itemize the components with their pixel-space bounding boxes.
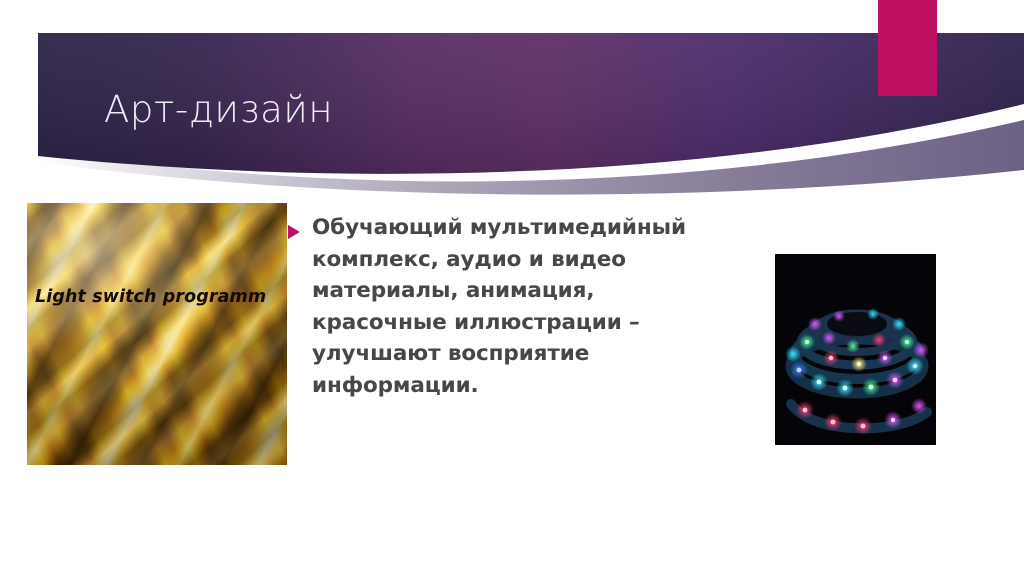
gold-silk-image: Light switch programm: [27, 203, 287, 465]
gold-image-caption: Light switch programm: [35, 287, 287, 307]
bullet-text: Обучающий мультимедийный комплекс, аудио…: [312, 212, 708, 401]
silk-sheen: [27, 203, 287, 465]
led-strip-image: [775, 254, 936, 445]
presentation-slide: Арт-дизайн Light switch programm Обучающ…: [0, 0, 1024, 574]
page-title: Арт-дизайн: [104, 88, 333, 131]
banner-swoosh: [38, 120, 1024, 195]
accent-bar: [878, 0, 937, 96]
bullet-arrow-icon: [288, 225, 300, 239]
led-strip-illustration: [775, 254, 936, 445]
